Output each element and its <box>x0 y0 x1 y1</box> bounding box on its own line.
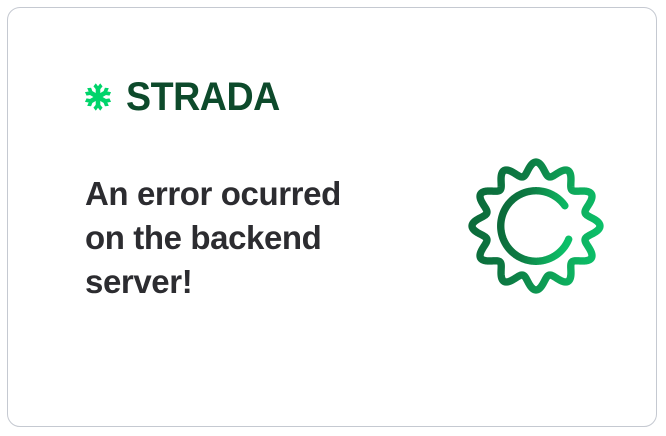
gear-cog-icon <box>454 144 618 308</box>
error-card: STRADA An error ocurred on the backend s… <box>7 7 657 427</box>
brand-lockup: STRADA <box>79 74 290 120</box>
gear-teeth <box>472 162 600 290</box>
error-message: An error ocurred on the backend server! <box>85 172 375 304</box>
strada-asterisk-icon <box>79 78 117 116</box>
gear-inner-ring <box>501 191 569 262</box>
brand-wordmark: STRADA <box>126 77 280 117</box>
